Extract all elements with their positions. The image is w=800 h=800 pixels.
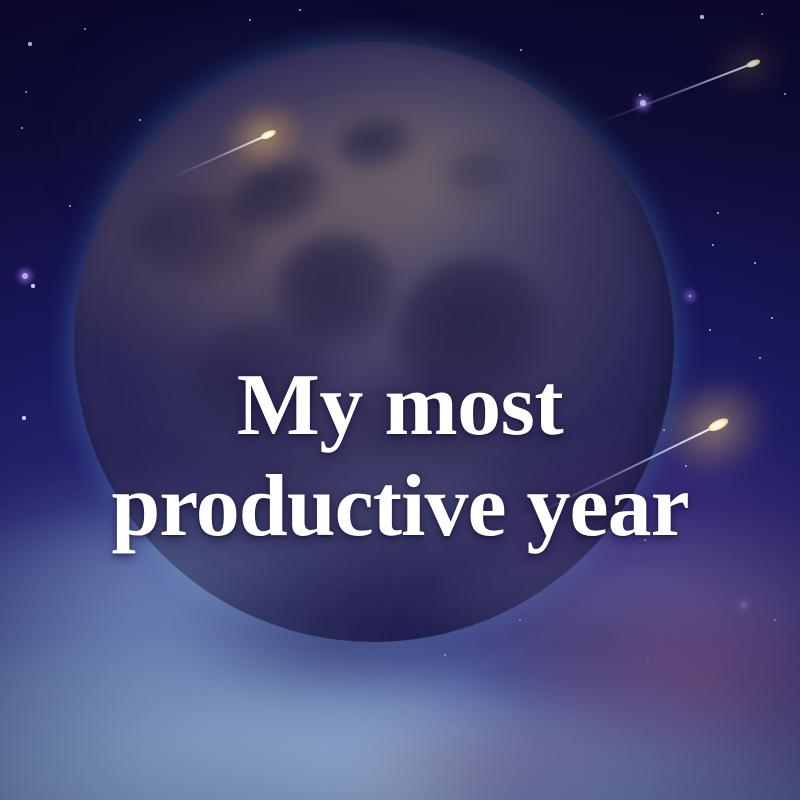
title-line-1: My most xyxy=(0,355,800,456)
cover-art-canvas: My most productive year xyxy=(0,0,800,800)
page-title: My most productive year xyxy=(0,355,800,557)
title-line-2: productive year xyxy=(0,456,800,557)
